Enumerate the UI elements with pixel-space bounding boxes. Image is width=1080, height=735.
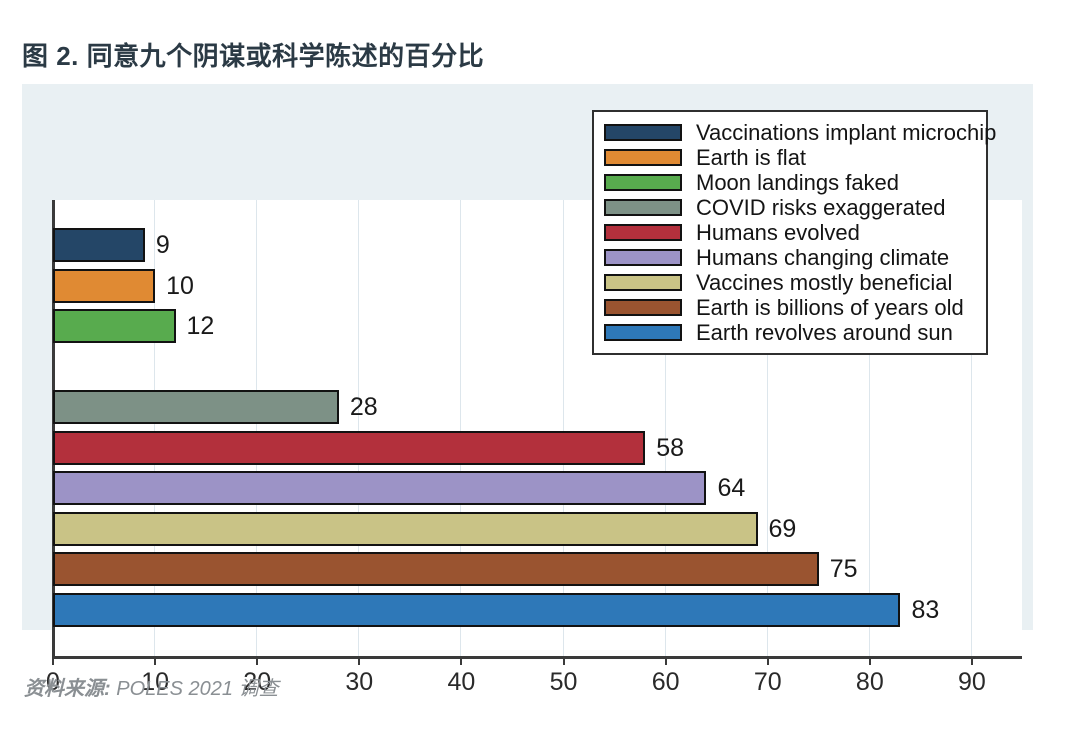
legend-item: Earth is billions of years old xyxy=(604,295,976,320)
legend-item: Vaccinations implant microchip xyxy=(604,120,976,145)
bar xyxy=(53,228,145,262)
legend-item: COVID risks exaggerated xyxy=(604,195,976,220)
chart-panel: 0102030405060708090 91012285864697583 Va… xyxy=(22,84,1033,630)
x-axis-tick xyxy=(563,656,565,665)
legend-item: Humans evolved xyxy=(604,220,976,245)
bar xyxy=(53,390,339,424)
legend-swatch xyxy=(604,149,682,166)
x-axis-tick-label: 40 xyxy=(448,668,476,697)
legend-label: Vaccines mostly beneficial xyxy=(696,270,952,295)
bar-value-label: 10 xyxy=(166,269,194,303)
bar xyxy=(53,431,645,465)
bar xyxy=(53,512,758,546)
x-axis-tick xyxy=(154,656,156,665)
x-axis-tick-label: 30 xyxy=(345,668,373,697)
legend-swatch xyxy=(604,274,682,291)
legend-label: Earth is billions of years old xyxy=(696,295,964,320)
legend-label: Humans changing climate xyxy=(696,245,949,270)
gridline xyxy=(563,200,564,656)
x-axis-tick xyxy=(52,656,54,665)
figure-container: 图 2. 同意九个阴谋或科学陈述的百分比 0102030405060708090… xyxy=(0,0,1080,735)
bar-value-label: 69 xyxy=(769,512,797,546)
legend-swatch xyxy=(604,324,682,341)
x-axis-tick xyxy=(460,656,462,665)
legend-item: Earth revolves around sun xyxy=(604,320,976,345)
x-axis-tick-label: 60 xyxy=(652,668,680,697)
x-axis-tick-label: 80 xyxy=(856,668,884,697)
x-axis-tick xyxy=(358,656,360,665)
source-value: POLES 2021 调查 xyxy=(116,678,278,700)
legend-swatch xyxy=(604,199,682,216)
legend-label: Earth is flat xyxy=(696,145,806,170)
legend-label: COVID risks exaggerated xyxy=(696,195,945,220)
legend-item: Moon landings faked xyxy=(604,170,976,195)
legend-item: Vaccines mostly beneficial xyxy=(604,270,976,295)
bar-value-label: 9 xyxy=(156,228,170,262)
chart-legend: Vaccinations implant microchipEarth is f… xyxy=(592,110,988,355)
bar xyxy=(53,552,819,586)
gridline xyxy=(256,200,257,656)
bar xyxy=(53,309,176,343)
figure-title: 图 2. 同意九个阴谋或科学陈述的百分比 xyxy=(22,36,484,73)
x-axis-tick xyxy=(971,656,973,665)
gridline xyxy=(358,200,359,656)
source-note: 资料来源: POLES 2021 调查 xyxy=(24,672,279,701)
bar xyxy=(53,269,155,303)
bar-value-label: 58 xyxy=(656,431,684,465)
bar xyxy=(53,471,706,505)
legend-label: Humans evolved xyxy=(696,220,860,245)
legend-item: Humans changing climate xyxy=(604,245,976,270)
bar xyxy=(53,593,900,627)
x-axis-tick xyxy=(665,656,667,665)
bar-value-label: 28 xyxy=(350,390,378,424)
bar-value-label: 64 xyxy=(717,471,745,505)
legend-swatch xyxy=(604,174,682,191)
source-label: 资料来源: xyxy=(24,678,111,700)
legend-swatch xyxy=(604,124,682,141)
legend-item: Earth is flat xyxy=(604,145,976,170)
bar-value-label: 75 xyxy=(830,552,858,586)
bar-value-label: 83 xyxy=(911,593,939,627)
x-axis-tick xyxy=(767,656,769,665)
legend-label: Moon landings faked xyxy=(696,170,899,195)
x-axis-tick xyxy=(869,656,871,665)
x-axis-tick-label: 70 xyxy=(754,668,782,697)
x-axis-line xyxy=(52,656,1022,659)
legend-swatch xyxy=(604,224,682,241)
legend-swatch xyxy=(604,249,682,266)
gridline xyxy=(460,200,461,656)
bar-value-label: 12 xyxy=(187,309,215,343)
legend-swatch xyxy=(604,299,682,316)
x-axis-tick-label: 50 xyxy=(550,668,578,697)
x-axis-tick-label: 90 xyxy=(958,668,986,697)
legend-label: Vaccinations implant microchip xyxy=(696,120,996,145)
x-axis-tick xyxy=(256,656,258,665)
legend-label: Earth revolves around sun xyxy=(696,320,953,345)
